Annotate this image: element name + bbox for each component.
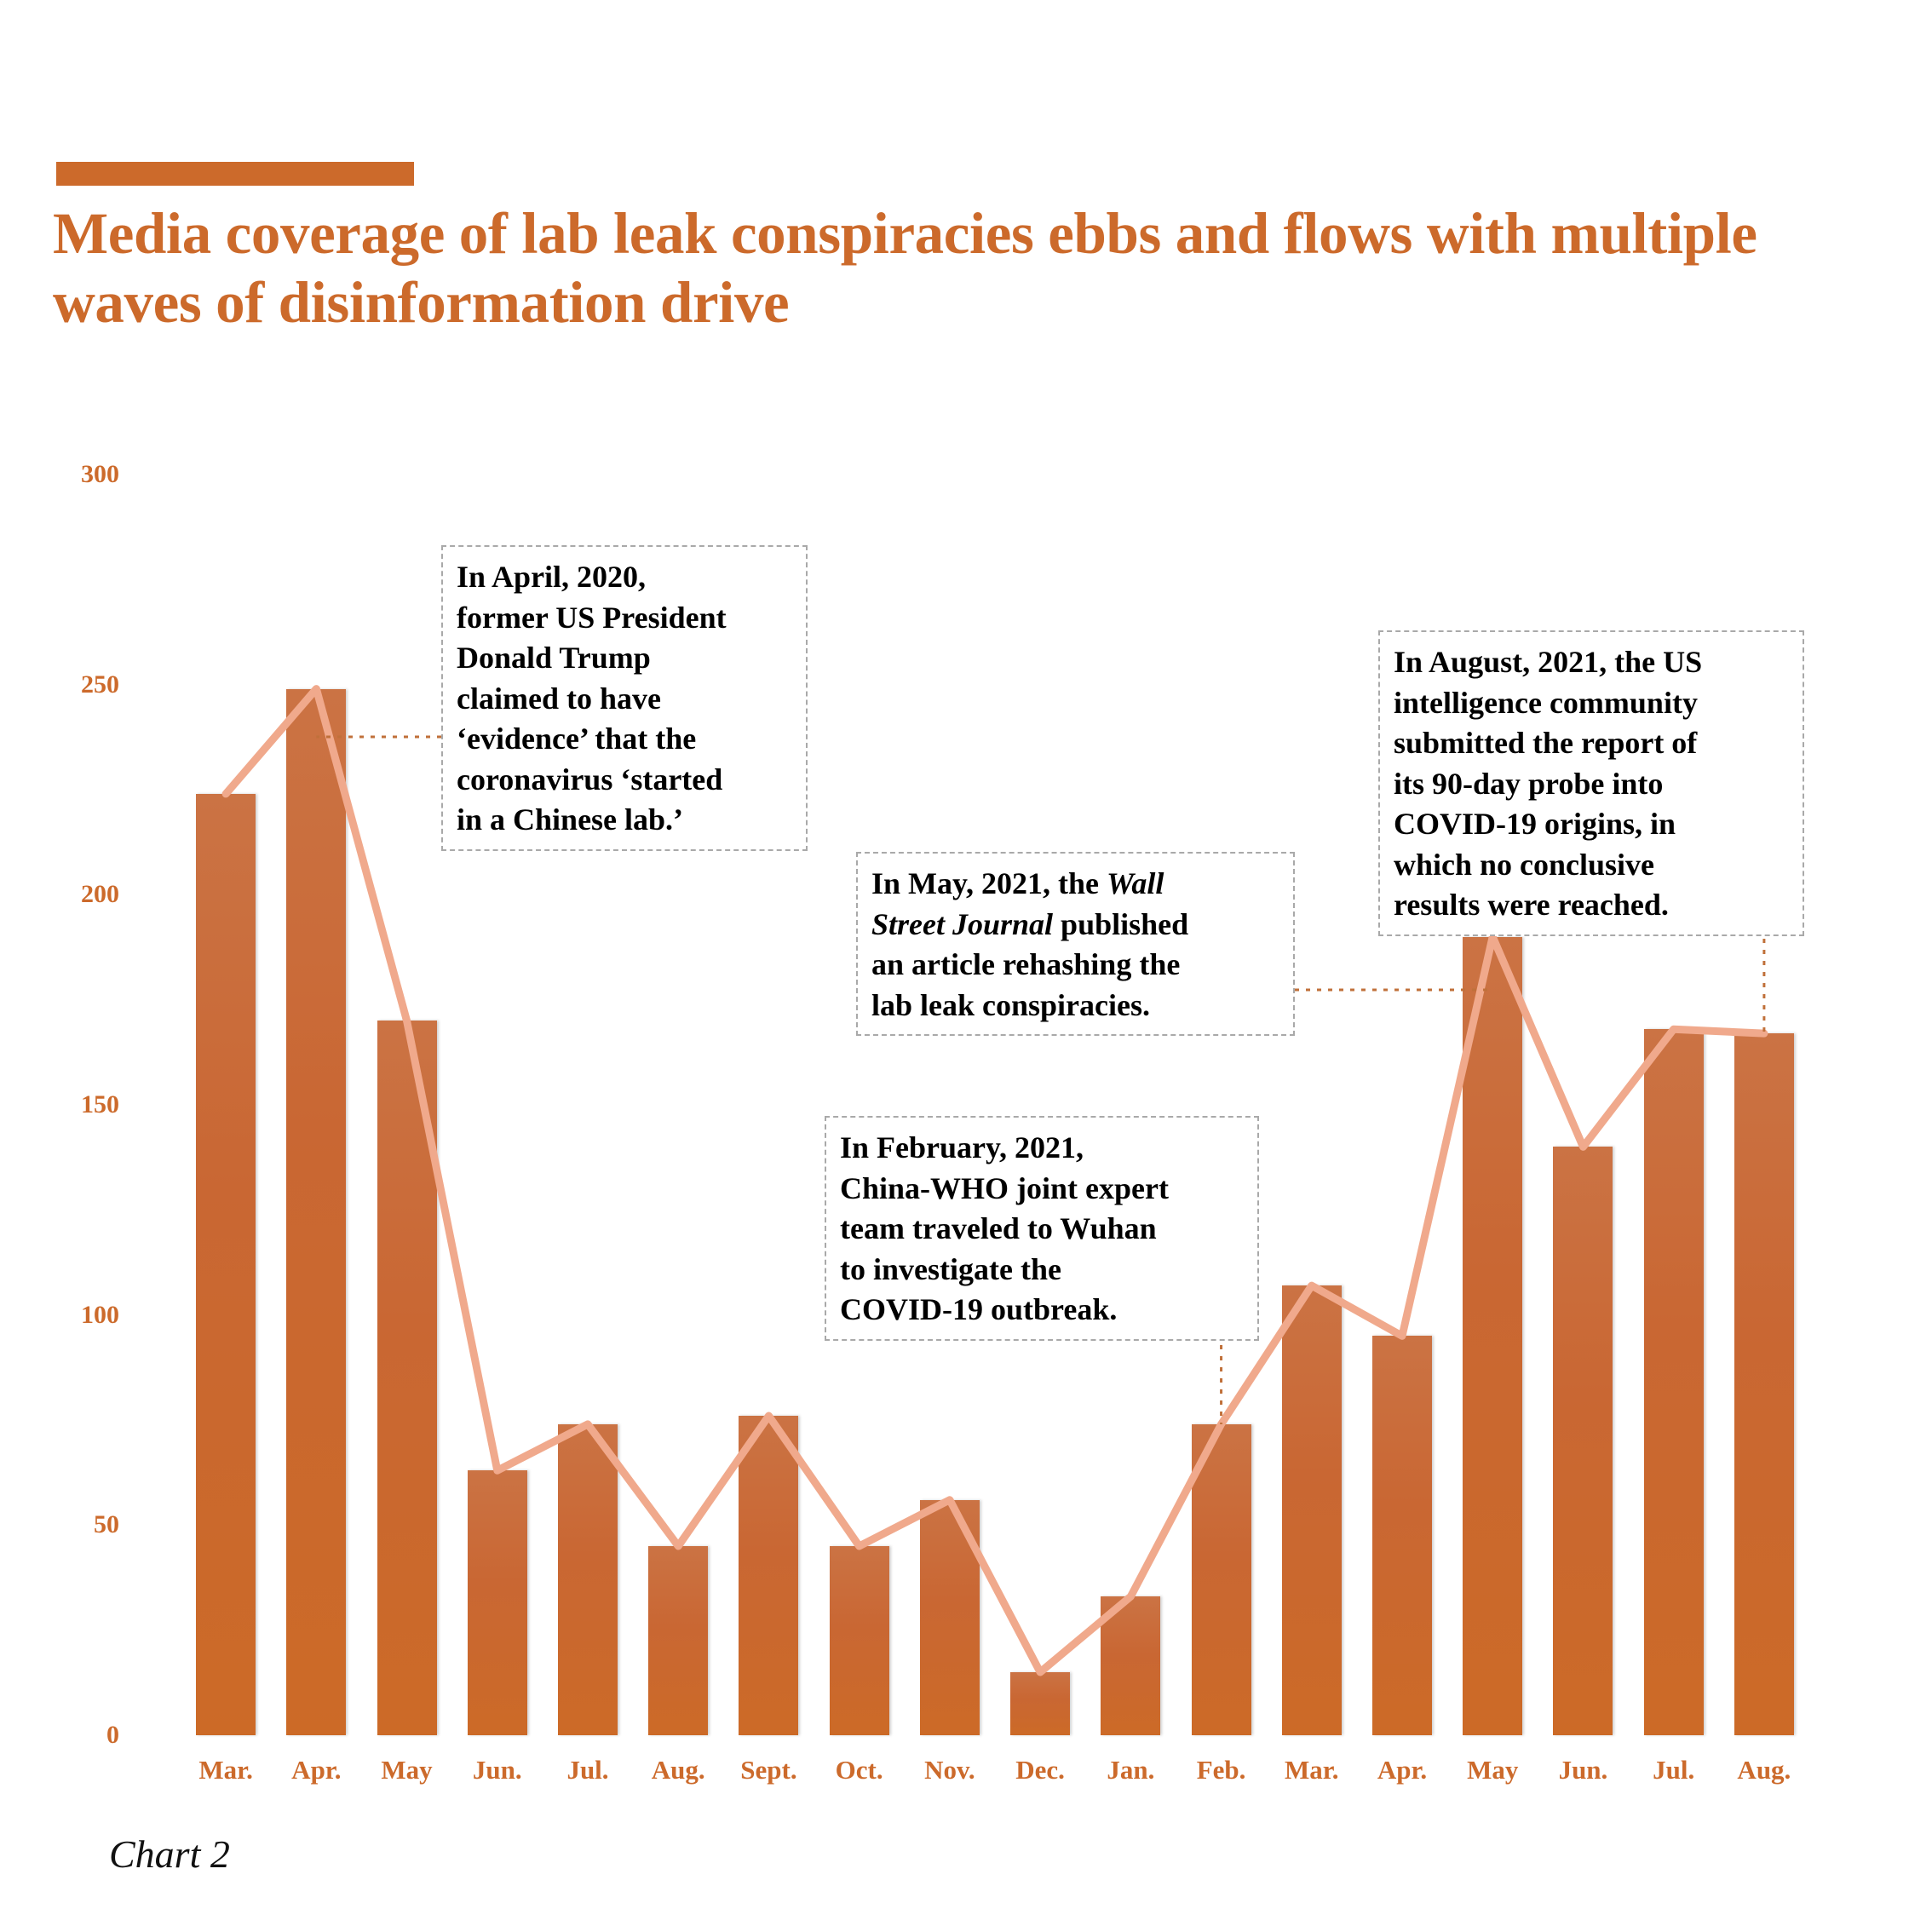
annotation-february-2021: In February, 2021,China-WHO joint expert… xyxy=(825,1116,1259,1341)
x-axis-tick-label: Sept. xyxy=(740,1755,796,1785)
bar xyxy=(468,1470,527,1735)
bar xyxy=(286,689,346,1735)
chart-caption: Chart 2 xyxy=(109,1831,230,1877)
x-axis-tick-label: Mar. xyxy=(1285,1755,1338,1785)
bar xyxy=(1734,1033,1794,1735)
x-axis-tick-label: Dec. xyxy=(1015,1755,1065,1785)
bar xyxy=(196,794,256,1735)
x-axis-tick-label: Apr. xyxy=(291,1755,341,1785)
bar xyxy=(830,1546,889,1735)
x-axis-tick-label: Nov. xyxy=(924,1755,975,1785)
x-axis-tick-label: Oct. xyxy=(836,1755,883,1785)
bar xyxy=(1192,1424,1251,1735)
bar xyxy=(1553,1147,1613,1735)
x-axis-tick-label: Jul. xyxy=(1653,1755,1694,1785)
x-axis-tick-label: Aug. xyxy=(652,1755,705,1785)
bar xyxy=(1463,937,1522,1735)
bar xyxy=(648,1546,708,1735)
bar xyxy=(1644,1029,1704,1735)
x-axis-tick-label: May xyxy=(381,1755,432,1785)
bar xyxy=(1372,1336,1432,1735)
x-axis-tick-label: Mar. xyxy=(198,1755,252,1785)
bar xyxy=(739,1416,798,1735)
bar xyxy=(1282,1285,1342,1735)
annotation-may-2021: In May, 2021, the WallStreet Journal pub… xyxy=(856,852,1295,1036)
x-axis-tick-label: Feb. xyxy=(1197,1755,1246,1785)
x-axis-tick-label: Apr. xyxy=(1377,1755,1427,1785)
bar xyxy=(558,1424,618,1735)
x-axis-tick-label: Jun. xyxy=(473,1755,522,1785)
bar xyxy=(377,1021,437,1735)
bar xyxy=(1101,1596,1160,1735)
x-axis-tick-label: Jan. xyxy=(1107,1755,1154,1785)
bar xyxy=(1010,1672,1070,1735)
x-axis-tick-label: Jun. xyxy=(1559,1755,1608,1785)
annotation-august-2021: In August, 2021, the USintelligence comm… xyxy=(1378,630,1804,936)
x-axis-tick-label: May xyxy=(1467,1755,1518,1785)
x-axis-tick-label: Aug. xyxy=(1737,1755,1791,1785)
annotation-april-2020: In April, 2020,former US PresidentDonald… xyxy=(441,545,808,851)
x-axis-tick-label: Jul. xyxy=(566,1755,608,1785)
bar xyxy=(920,1500,980,1735)
